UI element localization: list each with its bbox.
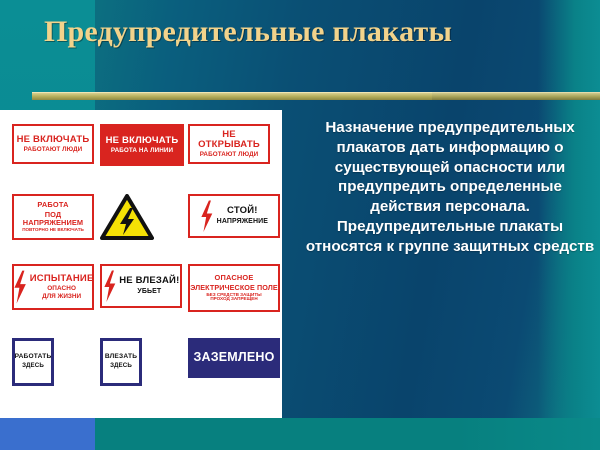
sign-ne-vklyuchat-rabota-na-linii: НЕ ВКЛЮЧАТЬРАБОТА НА ЛИНИИ (100, 124, 184, 166)
sign-line-primary: РАБОТА (37, 201, 68, 209)
sign-text: РАБОТАТЬЗДЕСЬ (15, 354, 52, 369)
sign-line-secondary: ОПАСНО (47, 286, 76, 293)
lightning-bolt-wrapper (13, 270, 27, 304)
bottom-teal-bar (95, 418, 600, 450)
poster-cell: ВЛЕЗАТЬЗДЕСЬ (100, 338, 142, 386)
title-underline (32, 92, 432, 100)
title-underline-extension (432, 92, 600, 100)
lightning-bolt-icon (13, 270, 27, 304)
sign-ostorozhno-elektricheskoe-napryazhenie (100, 194, 154, 240)
poster-cell: РАБОТАТЬЗДЕСЬ (12, 338, 54, 386)
sign-content: СТОЙ!НАПРЯЖЕНИЕ (190, 200, 278, 233)
sign-line-secondary: ЗДЕСЬ (22, 363, 44, 370)
sign-line-primary: ИСПЫТАНИЕ (30, 274, 94, 284)
lightning-bolt-wrapper (103, 270, 117, 303)
sign-ne-otkryvat-rabotayut-lyudi: НЕ ОТКРЫВАТЬРАБОТАЮТ ЛЮДИ (188, 124, 270, 164)
sign-line-secondary: РАБОТА НА ЛИНИИ (111, 148, 173, 155)
sign-text: ИСПЫТАНИЕОПАСНОДЛЯ ЖИЗНИ (30, 274, 94, 301)
sign-line-primary: НЕ ВЛЕЗАЙ! (119, 276, 179, 286)
sign-ispytanie-opasno-dlya-zhizni: ИСПЫТАНИЕОПАСНОДЛЯ ЖИЗНИ (12, 264, 94, 310)
sign-text: НЕ ВЛЕЗАЙ!УБЬЕТ (119, 276, 179, 295)
poster-cell: ЗАЗЕМЛЕНО (188, 338, 280, 378)
sign-text: РАБОТАПОД НАПРЯЖЕНИЕМПОВТОРНО НЕ ВКЛЮЧАТ… (14, 201, 92, 233)
sign-line-primary: НЕ ВКЛЮЧАТЬ (17, 135, 90, 145)
lightning-bolt-icon (200, 200, 214, 233)
page-title: Предупредительные плакаты (44, 16, 474, 48)
warning-triangle-icon (100, 194, 154, 240)
sign-ne-vlezay-ubyet: НЕ ВЛЕЗАЙ!УБЬЕТ (100, 264, 182, 308)
sign-zazemleno: ЗАЗЕМЛЕНО (188, 338, 280, 378)
sign-stoy-napryazhenie: СТОЙ!НАПРЯЖЕНИЕ (188, 194, 280, 238)
lightning-bolt-wrapper (200, 200, 214, 233)
sign-line-secondary: РАБОТАЮТ ЛЮДИ (200, 152, 259, 159)
sign-line-primary: СТОЙ! (227, 206, 258, 216)
sign-line-secondary: ЭЛЕКТРИЧЕСКОЕ ПОЛЕ (190, 284, 278, 292)
sign-line-secondary: ЗДЕСЬ (110, 363, 132, 370)
sign-text: ОПАСНОЕЭЛЕКТРИЧЕСКОЕ ПОЛЕБЕЗ СРЕДСТВ ЗАЩ… (190, 274, 278, 302)
poster-cell: НЕ ВЛЕЗАЙ!УБЬЕТ (100, 264, 182, 308)
title-block: Предупредительные плакаты (44, 16, 474, 48)
sign-line-secondary: РАБОТАЮТ ЛЮДИ (24, 147, 83, 154)
sign-vlezat-zdes: ВЛЕЗАТЬЗДЕСЬ (100, 338, 142, 386)
sign-line-primary: РАБОТАТЬ (15, 354, 52, 361)
sign-line-secondary: ПОД НАПРЯЖЕНИЕМ (14, 211, 92, 227)
sign-ne-vklyuchat-rabotayut-lyudi: НЕ ВКЛЮЧАТЬРАБОТАЮТ ЛЮДИ (12, 124, 94, 164)
sign-line-primary: НЕ ВКЛЮЧАТЬ (106, 136, 179, 146)
sign-line-primary: ЗАЗЕМЛЕНО (193, 351, 274, 364)
sign-text: НЕ ВКЛЮЧАТЬРАБОТАЮТ ЛЮДИ (17, 135, 90, 154)
poster-cell: СТОЙ!НАПРЯЖЕНИЕ (188, 194, 280, 238)
sign-line-tertiary: БЕЗ СРЕДСТВ ЗАЩИТЫ ПРОХОД ЗАПРЕЩЕН (197, 293, 271, 303)
sign-line-tertiary: ДЛЯ ЖИЗНИ (42, 294, 81, 301)
sign-line-primary: НЕ ОТКРЫВАТЬ (190, 130, 268, 150)
lightning-bolt-icon (103, 270, 117, 303)
sign-rabotat-zdes: РАБОТАТЬЗДЕСЬ (12, 338, 54, 386)
sign-line-secondary: УБЬЕТ (137, 288, 161, 295)
sign-content: ИСПЫТАНИЕОПАСНОДЛЯ ЖИЗНИ (14, 270, 92, 304)
sign-text: НЕ ОТКРЫВАТЬРАБОТАЮТ ЛЮДИ (190, 130, 268, 159)
poster-cell: ИСПЫТАНИЕОПАСНОДЛЯ ЖИЗНИ (12, 264, 94, 310)
slide-canvas: Предупредительные плакаты Назначение пре… (0, 0, 600, 450)
sign-text: СТОЙ!НАПРЯЖЕНИЕ (217, 206, 268, 225)
poster-cell: НЕ ВКЛЮЧАТЬРАБОТА НА ЛИНИИ (100, 124, 184, 166)
sign-text: ВЛЕЗАТЬЗДЕСЬ (105, 354, 137, 369)
bottom-blue-bar (0, 418, 95, 450)
poster-cell: НЕ ВКЛЮЧАТЬРАБОТАЮТ ЛЮДИ (12, 124, 94, 164)
poster-cell: ОПАСНОЕЭЛЕКТРИЧЕСКОЕ ПОЛЕБЕЗ СРЕДСТВ ЗАЩ… (188, 264, 280, 312)
sign-text: ЗАЗЕМЛЕНО (193, 351, 274, 364)
sign-line-secondary: НАПРЯЖЕНИЕ (217, 218, 268, 225)
sign-rabota-pod-napryazheniem: РАБОТАПОД НАПРЯЖЕНИЕМПОВТОРНО НЕ ВКЛЮЧАТ… (12, 194, 94, 240)
sign-line-tertiary: ПОВТОРНО НЕ ВКЛЮЧАТЬ (22, 228, 84, 233)
poster-cell: НЕ ОТКРЫВАТЬРАБОТАЮТ ЛЮДИ (188, 124, 270, 164)
sign-content: НЕ ВЛЕЗАЙ!УБЬЕТ (102, 270, 180, 303)
posters-grid: НЕ ВКЛЮЧАТЬРАБОТАЮТ ЛЮДИНЕ ВКЛЮЧАТЬРАБОТ… (0, 110, 282, 418)
poster-cell (100, 194, 154, 240)
poster-cell: РАБОТАПОД НАПРЯЖЕНИЕМПОВТОРНО НЕ ВКЛЮЧАТ… (12, 194, 94, 240)
posters-panel: НЕ ВКЛЮЧАТЬРАБОТАЮТ ЛЮДИНЕ ВКЛЮЧАТЬРАБОТ… (0, 110, 282, 418)
sign-opasnoe-elektricheskoe-pole: ОПАСНОЕЭЛЕКТРИЧЕСКОЕ ПОЛЕБЕЗ СРЕДСТВ ЗАЩ… (188, 264, 280, 312)
sign-line-primary: ОПАСНОЕ (215, 274, 254, 282)
sign-text: НЕ ВКЛЮЧАТЬРАБОТА НА ЛИНИИ (106, 136, 179, 155)
body-text: Назначение предупредительных плакатов да… (305, 118, 595, 256)
sign-line-primary: ВЛЕЗАТЬ (105, 354, 137, 361)
